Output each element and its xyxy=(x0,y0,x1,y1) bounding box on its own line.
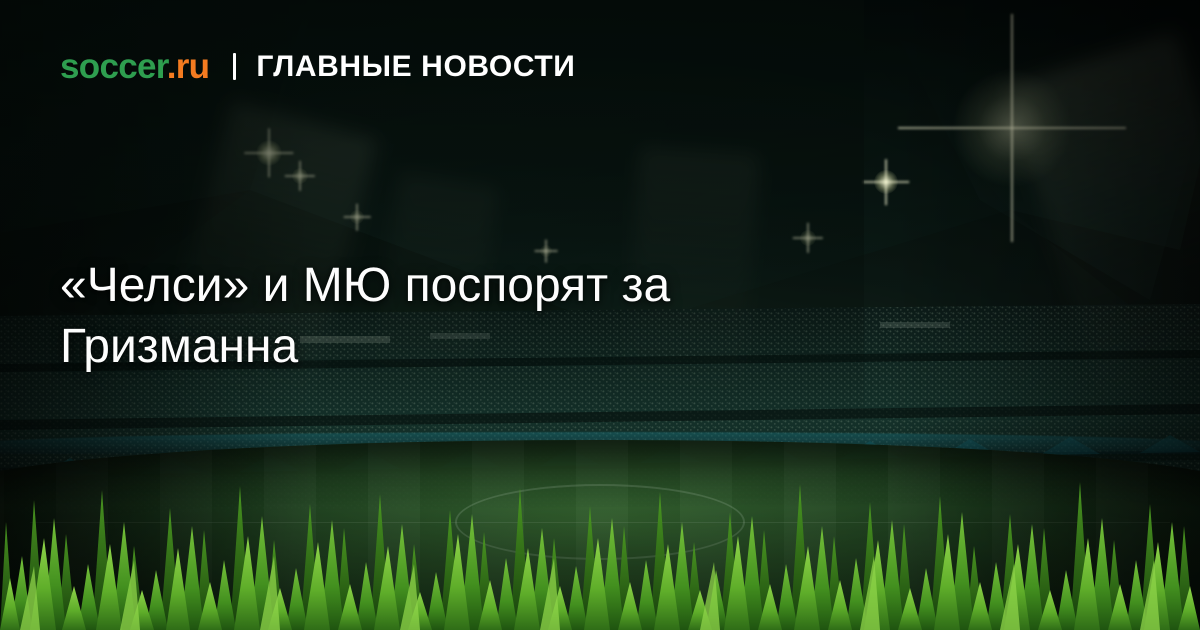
article-headline: «Челси» и МЮ поспорят за Гризманна xyxy=(60,255,920,378)
foreground-grass xyxy=(0,460,1200,630)
site-logo[interactable]: soccer.ru xyxy=(60,49,209,84)
news-banner-card: soccer.ru ГЛАВНЫЕ НОВОСТИ «Челси» и МЮ п… xyxy=(0,0,1200,630)
banner-header: soccer.ru ГЛАВНЫЕ НОВОСТИ xyxy=(60,49,575,84)
section-kicker: ГЛАВНЫЕ НОВОСТИ xyxy=(256,52,575,82)
logo-text-primary: soccer xyxy=(60,47,167,86)
logo-text-suffix: .ru xyxy=(167,47,210,86)
header-separator xyxy=(233,53,236,80)
